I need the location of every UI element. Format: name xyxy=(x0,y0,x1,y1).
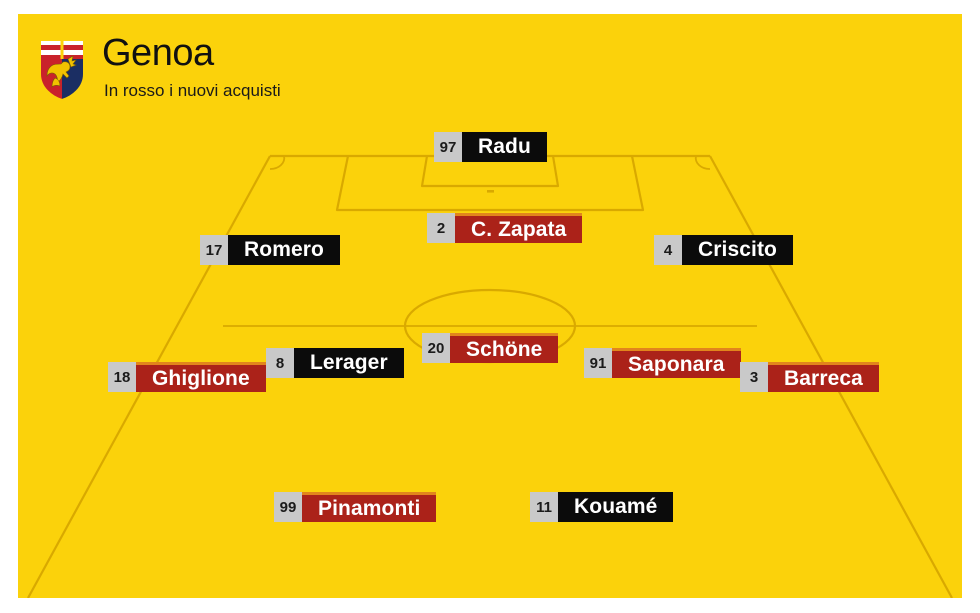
player-chip[interactable]: 17Romero xyxy=(200,235,340,265)
player-name: Schöne xyxy=(450,333,558,363)
penalty-spot xyxy=(487,190,494,193)
player-number: 4 xyxy=(654,235,682,265)
header-text: Genoa In rosso i nuovi acquisti xyxy=(102,34,281,99)
player-name: Saponara xyxy=(612,348,741,378)
player-chip[interactable]: 2C. Zapata xyxy=(427,213,582,243)
player-chip[interactable]: 20Schöne xyxy=(422,333,558,363)
player-name: Romero xyxy=(228,235,340,265)
player-chip[interactable]: 8Lerager xyxy=(266,348,404,378)
player-chip[interactable]: 97Radu xyxy=(434,132,547,162)
lineup-graphic: Genoa In rosso i nuovi acquisti 97Radu2C… xyxy=(0,0,980,613)
genoa-crest-icon xyxy=(38,38,86,102)
player-number: 2 xyxy=(427,213,455,243)
player-chip[interactable]: 18Ghiglione xyxy=(108,362,266,392)
player-chip[interactable]: 4Criscito xyxy=(654,235,793,265)
player-name: Radu xyxy=(462,132,547,162)
page-title: Genoa xyxy=(102,34,281,72)
player-number: 3 xyxy=(740,362,768,392)
player-name: Kouamé xyxy=(558,492,673,522)
player-chip[interactable]: 11Kouamé xyxy=(530,492,673,522)
player-name: Barreca xyxy=(768,362,879,392)
player-number: 17 xyxy=(200,235,228,265)
header: Genoa In rosso i nuovi acquisti xyxy=(38,34,281,102)
player-name: Criscito xyxy=(682,235,793,265)
player-chip[interactable]: 91Saponara xyxy=(584,348,741,378)
penalty-area xyxy=(337,156,643,210)
player-name: C. Zapata xyxy=(455,213,582,243)
player-chip[interactable]: 3Barreca xyxy=(740,362,879,392)
player-name: Pinamonti xyxy=(302,492,436,522)
player-number: 8 xyxy=(266,348,294,378)
player-chip[interactable]: 99Pinamonti xyxy=(274,492,436,522)
page-subtitle: In rosso i nuovi acquisti xyxy=(104,82,281,99)
corner-arc-left xyxy=(270,156,284,169)
player-name: Ghiglione xyxy=(136,362,266,392)
player-number: 18 xyxy=(108,362,136,392)
player-name: Lerager xyxy=(294,348,404,378)
player-number: 11 xyxy=(530,492,558,522)
player-number: 97 xyxy=(434,132,462,162)
corner-arc-right xyxy=(696,156,710,169)
player-number: 99 xyxy=(274,492,302,522)
player-number: 91 xyxy=(584,348,612,378)
player-number: 20 xyxy=(422,333,450,363)
pitch-panel: Genoa In rosso i nuovi acquisti 97Radu2C… xyxy=(18,14,962,598)
